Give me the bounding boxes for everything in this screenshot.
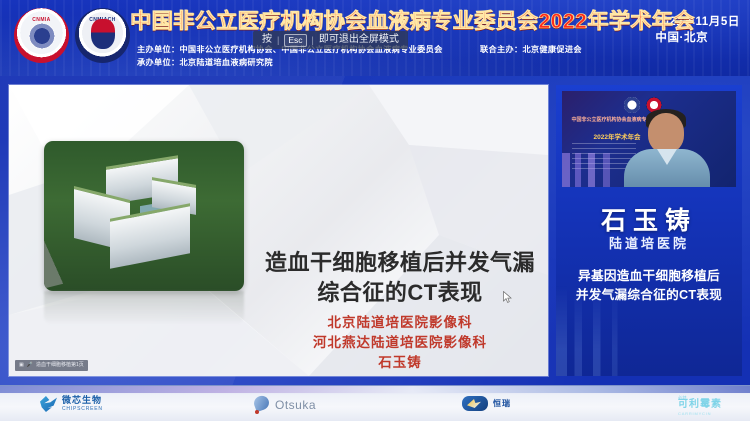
- chipscreen-logo-icon: [40, 396, 57, 412]
- slide-caption-text: 造血干细胞移植第1页: [36, 361, 84, 370]
- chipscreen-label: 微芯生物 CHIPSCREEN: [62, 396, 103, 412]
- slide-authors: 北京陆道培医院影像科 河北燕达陆道培医院影像科 石玉铸: [255, 313, 545, 373]
- esc-hint-divider-left: |: [277, 33, 279, 47]
- mouse-cursor: [503, 291, 512, 303]
- speaker-info-panel: 中国非公立医疗机构协会血液病专业委员会 2022年学术年会 石玉铸 陆道培医院 …: [556, 85, 742, 376]
- webinar-fullscreen-view: CNMIA CNMIACH 中国非公立医疗机构协会血液病专业委员会2022年学术…: [0, 0, 750, 421]
- esc-hint-suffix: 即可退出全屏模式: [319, 33, 399, 47]
- cnmia-seal-label: CNMIA: [14, 17, 69, 23]
- sponsor-hengrui[interactable]: 恒瑞: [462, 396, 511, 411]
- chipscreen-name-en: CHIPSCREEN: [62, 407, 103, 412]
- photo-reflection: [44, 291, 244, 325]
- cohost-line: 联合主办：北京健康促进会: [480, 44, 582, 57]
- carrimycin-label: 必特 可利霉素 CARRIMYCIN: [678, 396, 722, 416]
- slide-author-line-3: 石玉铸: [255, 353, 545, 373]
- speaker-organization: 陆道培医院: [556, 233, 742, 252]
- otsuka-logo-icon: [253, 396, 270, 414]
- speaker-name: 石玉铸: [556, 201, 742, 237]
- slide-title: 造血干细胞移植后并发气漏 综合征的CT表现: [255, 248, 545, 308]
- organizer-line: 承办单位：北京陆道培血液病研究院: [137, 57, 443, 70]
- sponsor-otsuka[interactable]: Otsuka: [253, 396, 316, 414]
- monitor-icon: ▣: [19, 361, 24, 370]
- association-logos: CNMIA CNMIACH: [14, 8, 130, 63]
- cnmiach-seal-icon: CNMIACH: [75, 8, 130, 63]
- esc-key-badge: Esc: [284, 34, 306, 47]
- hengrui-name-cn: 恒瑞: [493, 400, 511, 408]
- slide-title-line-1: 造血干细胞移植后并发气漏: [255, 248, 545, 278]
- slide-author-line-1: 北京陆道培医院影像科: [255, 313, 545, 333]
- otsuka-dot-shape: [255, 410, 259, 414]
- cnmia-seal-icon: CNMIA: [14, 8, 69, 63]
- sponsor-chipscreen[interactable]: 微芯生物 CHIPSCREEN: [40, 396, 103, 412]
- speaker-topic-line-1: 异基因造血干细胞移植后: [560, 267, 738, 286]
- carrimycin-name-en: CARRIMYCIN: [678, 412, 722, 416]
- speaker-video-feed[interactable]: 中国非公立医疗机构协会血液病专业委员会 2022年学术年会: [562, 91, 736, 187]
- sponsor-bar: 微芯生物 CHIPSCREEN Otsuka 恒瑞 必特 可利霉素 CARRIM…: [0, 385, 750, 421]
- otsuka-name: Otsuka: [275, 398, 316, 412]
- presentation-stage: 造血干细胞移植后并发气漏 综合征的CT表现 北京陆道培医院影像科 河北燕达陆道培…: [0, 76, 750, 385]
- carrimycin-name-cn: 可利霉素: [678, 400, 722, 410]
- slide-watermark-caption: ▣ 🎤 造血干细胞移植第1页: [15, 360, 88, 371]
- hengrui-label: 恒瑞: [493, 400, 511, 408]
- speaker-topic: 异基因造血干细胞移植后 并发气漏综合征的CT表现: [560, 267, 738, 305]
- chipscreen-name-cn: 微芯生物: [62, 396, 103, 405]
- esc-hint-divider-right: |: [312, 33, 314, 47]
- video-seal-left-icon: [624, 97, 640, 113]
- hengrui-logo-icon: [462, 396, 488, 411]
- exit-fullscreen-hint: 按 | Esc | 即可退出全屏模式: [253, 31, 408, 49]
- mic-icon: 🎤: [27, 361, 33, 370]
- hospital-aerial-photo: [44, 141, 244, 291]
- slide-author-line-2: 河北燕达陆道培医院影像科: [255, 333, 545, 353]
- sponsor-carrimycin[interactable]: 必特 可利霉素 CARRIMYCIN: [678, 396, 722, 416]
- cnmiach-seal-label: CNMIACH: [75, 17, 130, 23]
- esc-hint-prefix: 按: [262, 33, 272, 47]
- speaker-topic-line-2: 并发气漏综合征的CT表现: [560, 286, 738, 305]
- speaker-head: [648, 113, 684, 153]
- slide-title-line-2: 综合征的CT表现: [255, 278, 545, 308]
- event-header-banner: CNMIA CNMIACH 中国非公立医疗机构协会血液病专业委员会2022年学术…: [0, 0, 750, 76]
- slide-canvas[interactable]: 造血干细胞移植后并发气漏 综合征的CT表现 北京陆道培医院影像科 河北燕达陆道培…: [9, 85, 548, 376]
